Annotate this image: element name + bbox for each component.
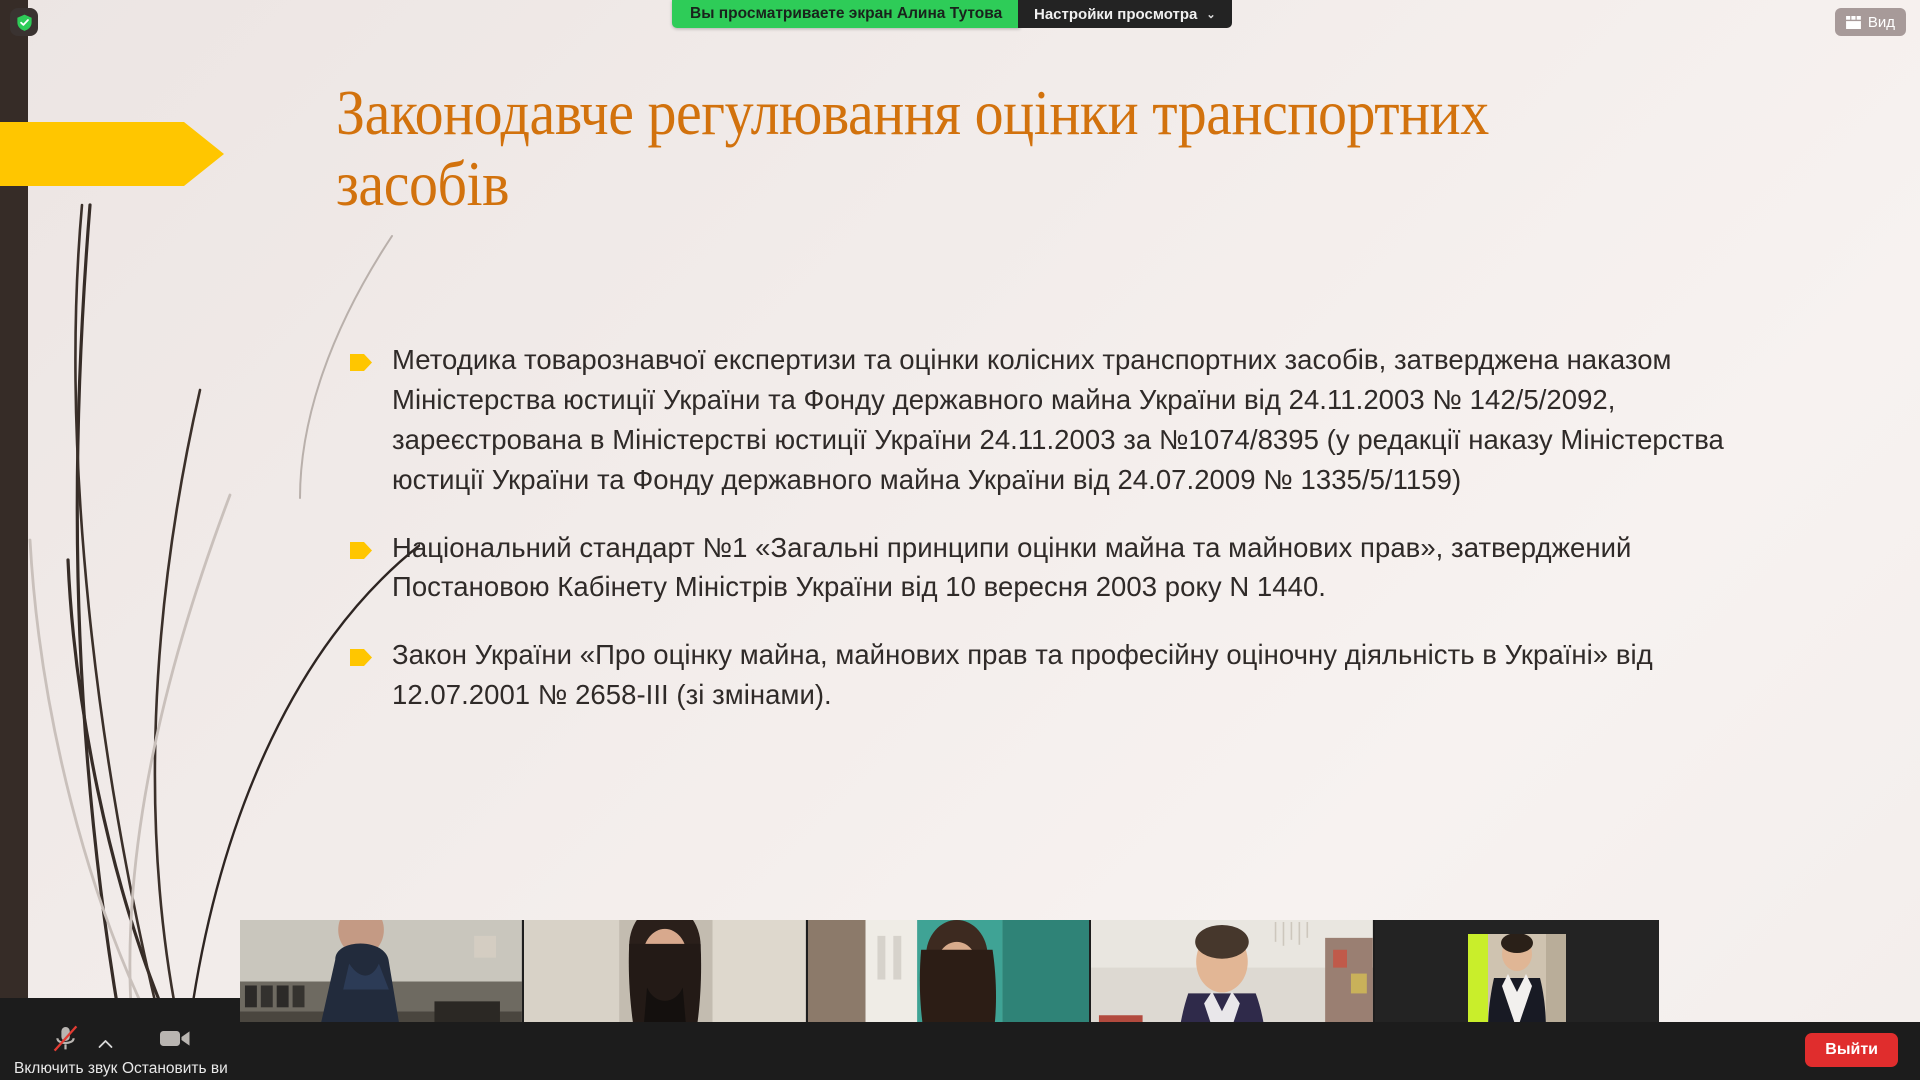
bullet-text: Національний стандарт №1 «Загальні принц… (392, 528, 1770, 608)
toolbar-backdrop (0, 998, 240, 1022)
unmute-audio-label: Включить звук (14, 1061, 117, 1077)
bullet-item: Закон України «Про оцінку майна, майнови… (350, 635, 1770, 715)
audio-options-chevron-icon[interactable] (98, 1037, 113, 1052)
view-layout-button[interactable]: Вид (1835, 8, 1906, 36)
slide-bullet-list: Методика товарознавчої експертизи та оці… (350, 340, 1770, 743)
bullet-text: Закон України «Про оцінку майна, майнови… (392, 635, 1770, 715)
arrow-bullet-icon (350, 354, 372, 371)
camera-icon (160, 1026, 190, 1052)
meeting-toolbar: Включить звук Остановить ви Выйти (0, 1022, 1920, 1080)
screen-share-status-banner: Вы просматриваете экран Алина Тутова (672, 0, 1020, 28)
shield-check-glyph (15, 13, 34, 32)
view-settings-label: Настройки просмотра (1034, 6, 1197, 23)
slide-title: Законодавче регулювання оцінки транспорт… (336, 78, 1569, 219)
mic-off-icon (53, 1026, 78, 1052)
share-status-text: Вы просматриваете экран Алина Тутова (690, 5, 1002, 23)
shared-screen-slide: Законодавче регулювання оцінки транспорт… (0, 0, 1920, 1022)
stop-video-label: Остановить ви (122, 1061, 228, 1077)
bullet-item: Національний стандарт №1 «Загальні принц… (350, 528, 1770, 608)
grid-view-icon (1846, 16, 1861, 29)
arrow-bullet-icon (350, 542, 372, 559)
bullet-text: Методика товарознавчої експертизи та оці… (392, 340, 1770, 500)
leave-meeting-button[interactable]: Выйти (1805, 1033, 1898, 1067)
bullet-item: Методика товарознавчої експертизи та оці… (350, 340, 1770, 500)
arrow-bullet-icon (350, 649, 372, 666)
view-button-label: Вид (1868, 14, 1895, 31)
shield-check-icon[interactable] (10, 8, 38, 36)
chevron-up-glyph (98, 1039, 113, 1049)
chevron-down-icon: ⌄ (1206, 8, 1215, 21)
avatar-photo (1468, 934, 1566, 1030)
avatar (1468, 934, 1566, 1030)
view-settings-button[interactable]: Настройки просмотра ⌄ (1018, 0, 1232, 28)
yellow-arrow-banner (0, 120, 226, 188)
stop-video-button[interactable]: Остановить ви (122, 1026, 228, 1077)
